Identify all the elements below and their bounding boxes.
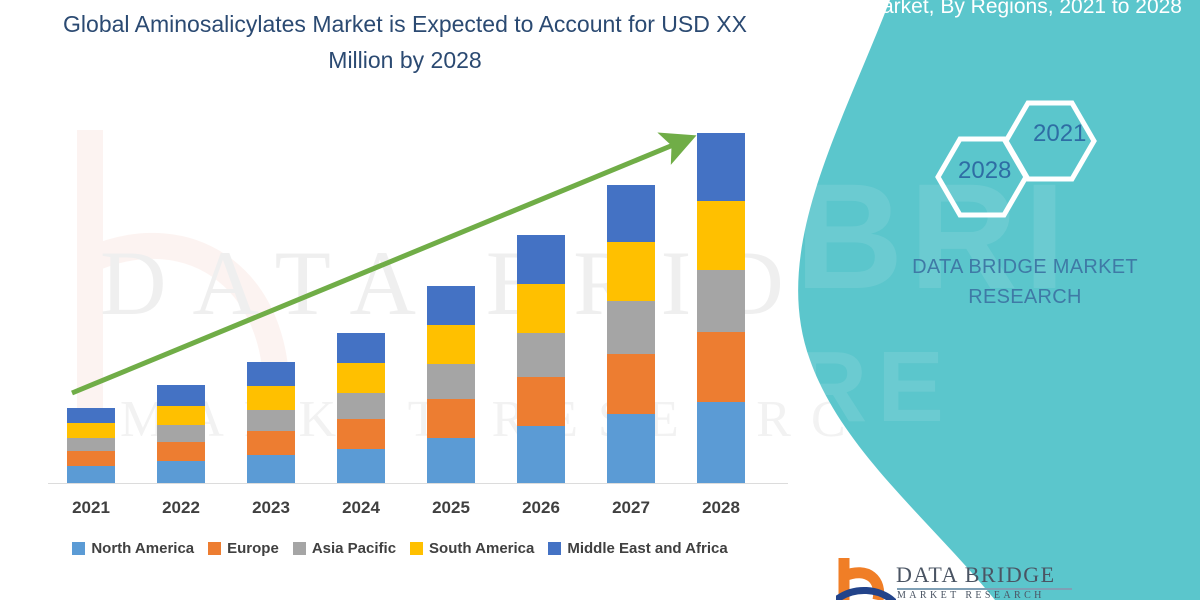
bar-2027: [607, 185, 655, 483]
bridge-mark-icon: [836, 556, 896, 600]
legend-swatch-icon: [410, 542, 423, 555]
bar-segment: [517, 284, 565, 333]
chart-legend: North AmericaEuropeAsia PacificSouth Ame…: [0, 540, 800, 557]
bar-segment: [607, 414, 655, 483]
x-axis-label-2024: 2024: [316, 498, 406, 518]
bar-segment: [607, 354, 655, 414]
data-bridge-logo: DATA BRIDGE MARKET RESEARCH: [836, 556, 1176, 600]
bar-2025: [427, 286, 475, 483]
bar-segment: [157, 406, 205, 425]
bar-segment: [697, 332, 745, 402]
legend-swatch-icon: [72, 542, 85, 555]
bar-segment: [337, 449, 385, 483]
hexagon-label-2021: 2021: [1033, 120, 1086, 148]
x-axis-label-2023: 2023: [226, 498, 316, 518]
bar-segment: [517, 377, 565, 426]
bar-segment: [697, 201, 745, 270]
bar-segment: [157, 425, 205, 442]
bar-segment: [67, 438, 115, 451]
legend-label: North America: [91, 540, 194, 557]
bar-segment: [697, 133, 745, 201]
hexagon-pair: 2021 2028: [920, 95, 1120, 235]
bar-segment: [337, 363, 385, 393]
bar-segment: [247, 431, 295, 455]
x-axis-label-2025: 2025: [406, 498, 496, 518]
logo-wordmark: DATA BRIDGE: [896, 562, 1056, 588]
stacked-bar-chart: Global Aminosalicylates Market is Expect…: [0, 0, 800, 600]
bar-segment: [157, 385, 205, 406]
bar-segment: [247, 362, 295, 386]
hexagon-outline-icon: [920, 95, 1120, 235]
x-axis-label-2026: 2026: [496, 498, 586, 518]
bar-segment: [427, 286, 475, 325]
legend-swatch-icon: [208, 542, 221, 555]
hexagon-label-2028: 2028: [958, 157, 1011, 185]
bar-segment: [427, 364, 475, 399]
bar-2023: [247, 362, 295, 483]
bar-segment: [517, 235, 565, 284]
logo-subtitle: MARKET RESEARCH: [897, 590, 1045, 600]
bar-segment: [247, 410, 295, 431]
bar-segment: [247, 386, 295, 410]
panel-title: Market, By Regions, 2021 to 2028: [862, 0, 1182, 22]
bar-segment: [427, 438, 475, 483]
bar-segment: [247, 455, 295, 483]
panel-watermark-bottom: RE: [795, 330, 954, 445]
legend-label: Asia Pacific: [312, 540, 396, 557]
legend-item-asia-pacific[interactable]: Asia Pacific: [293, 540, 396, 557]
bar-segment: [697, 270, 745, 332]
bar-segment: [517, 426, 565, 483]
legend-item-europe[interactable]: Europe: [208, 540, 279, 557]
panel-brand-name: DATA BRIDGE MARKET RESEARCH: [880, 252, 1170, 312]
x-axis-label-2027: 2027: [586, 498, 676, 518]
bar-segment: [427, 325, 475, 364]
bar-segment: [427, 399, 475, 438]
bar-segment: [67, 466, 115, 483]
bar-segment: [157, 442, 205, 461]
legend-swatch-icon: [293, 542, 306, 555]
bar-2028: [697, 133, 745, 483]
bar-segment: [697, 402, 745, 483]
bar-2024: [337, 333, 385, 483]
bar-segment: [67, 408, 115, 423]
bar-segment: [337, 419, 385, 449]
legend-item-middle-east-and-africa[interactable]: Middle East and Africa: [548, 540, 727, 557]
x-axis-label-2021: 2021: [46, 498, 136, 518]
bar-2026: [517, 235, 565, 483]
infographic-canvas: DATA BRIDGE MARKET RESEARCH Global Amino…: [0, 0, 1200, 600]
bar-segment: [337, 333, 385, 363]
bar-segment: [67, 451, 115, 466]
bar-segment: [517, 333, 565, 377]
bar-segment: [67, 423, 115, 438]
x-axis-label-2028: 2028: [676, 498, 766, 518]
legend-item-north-america[interactable]: North America: [72, 540, 194, 557]
legend-item-south-america[interactable]: South America: [410, 540, 534, 557]
legend-label: Middle East and Africa: [567, 540, 727, 557]
bar-segment: [607, 185, 655, 242]
legend-label: South America: [429, 540, 534, 557]
bar-segment: [607, 301, 655, 354]
bar-segment: [337, 393, 385, 419]
bar-2022: [157, 385, 205, 483]
legend-label: Europe: [227, 540, 279, 557]
bar-2021: [67, 408, 115, 483]
bar-segment: [607, 242, 655, 301]
x-axis-label-2022: 2022: [136, 498, 226, 518]
legend-swatch-icon: [548, 542, 561, 555]
bar-segment: [157, 461, 205, 483]
